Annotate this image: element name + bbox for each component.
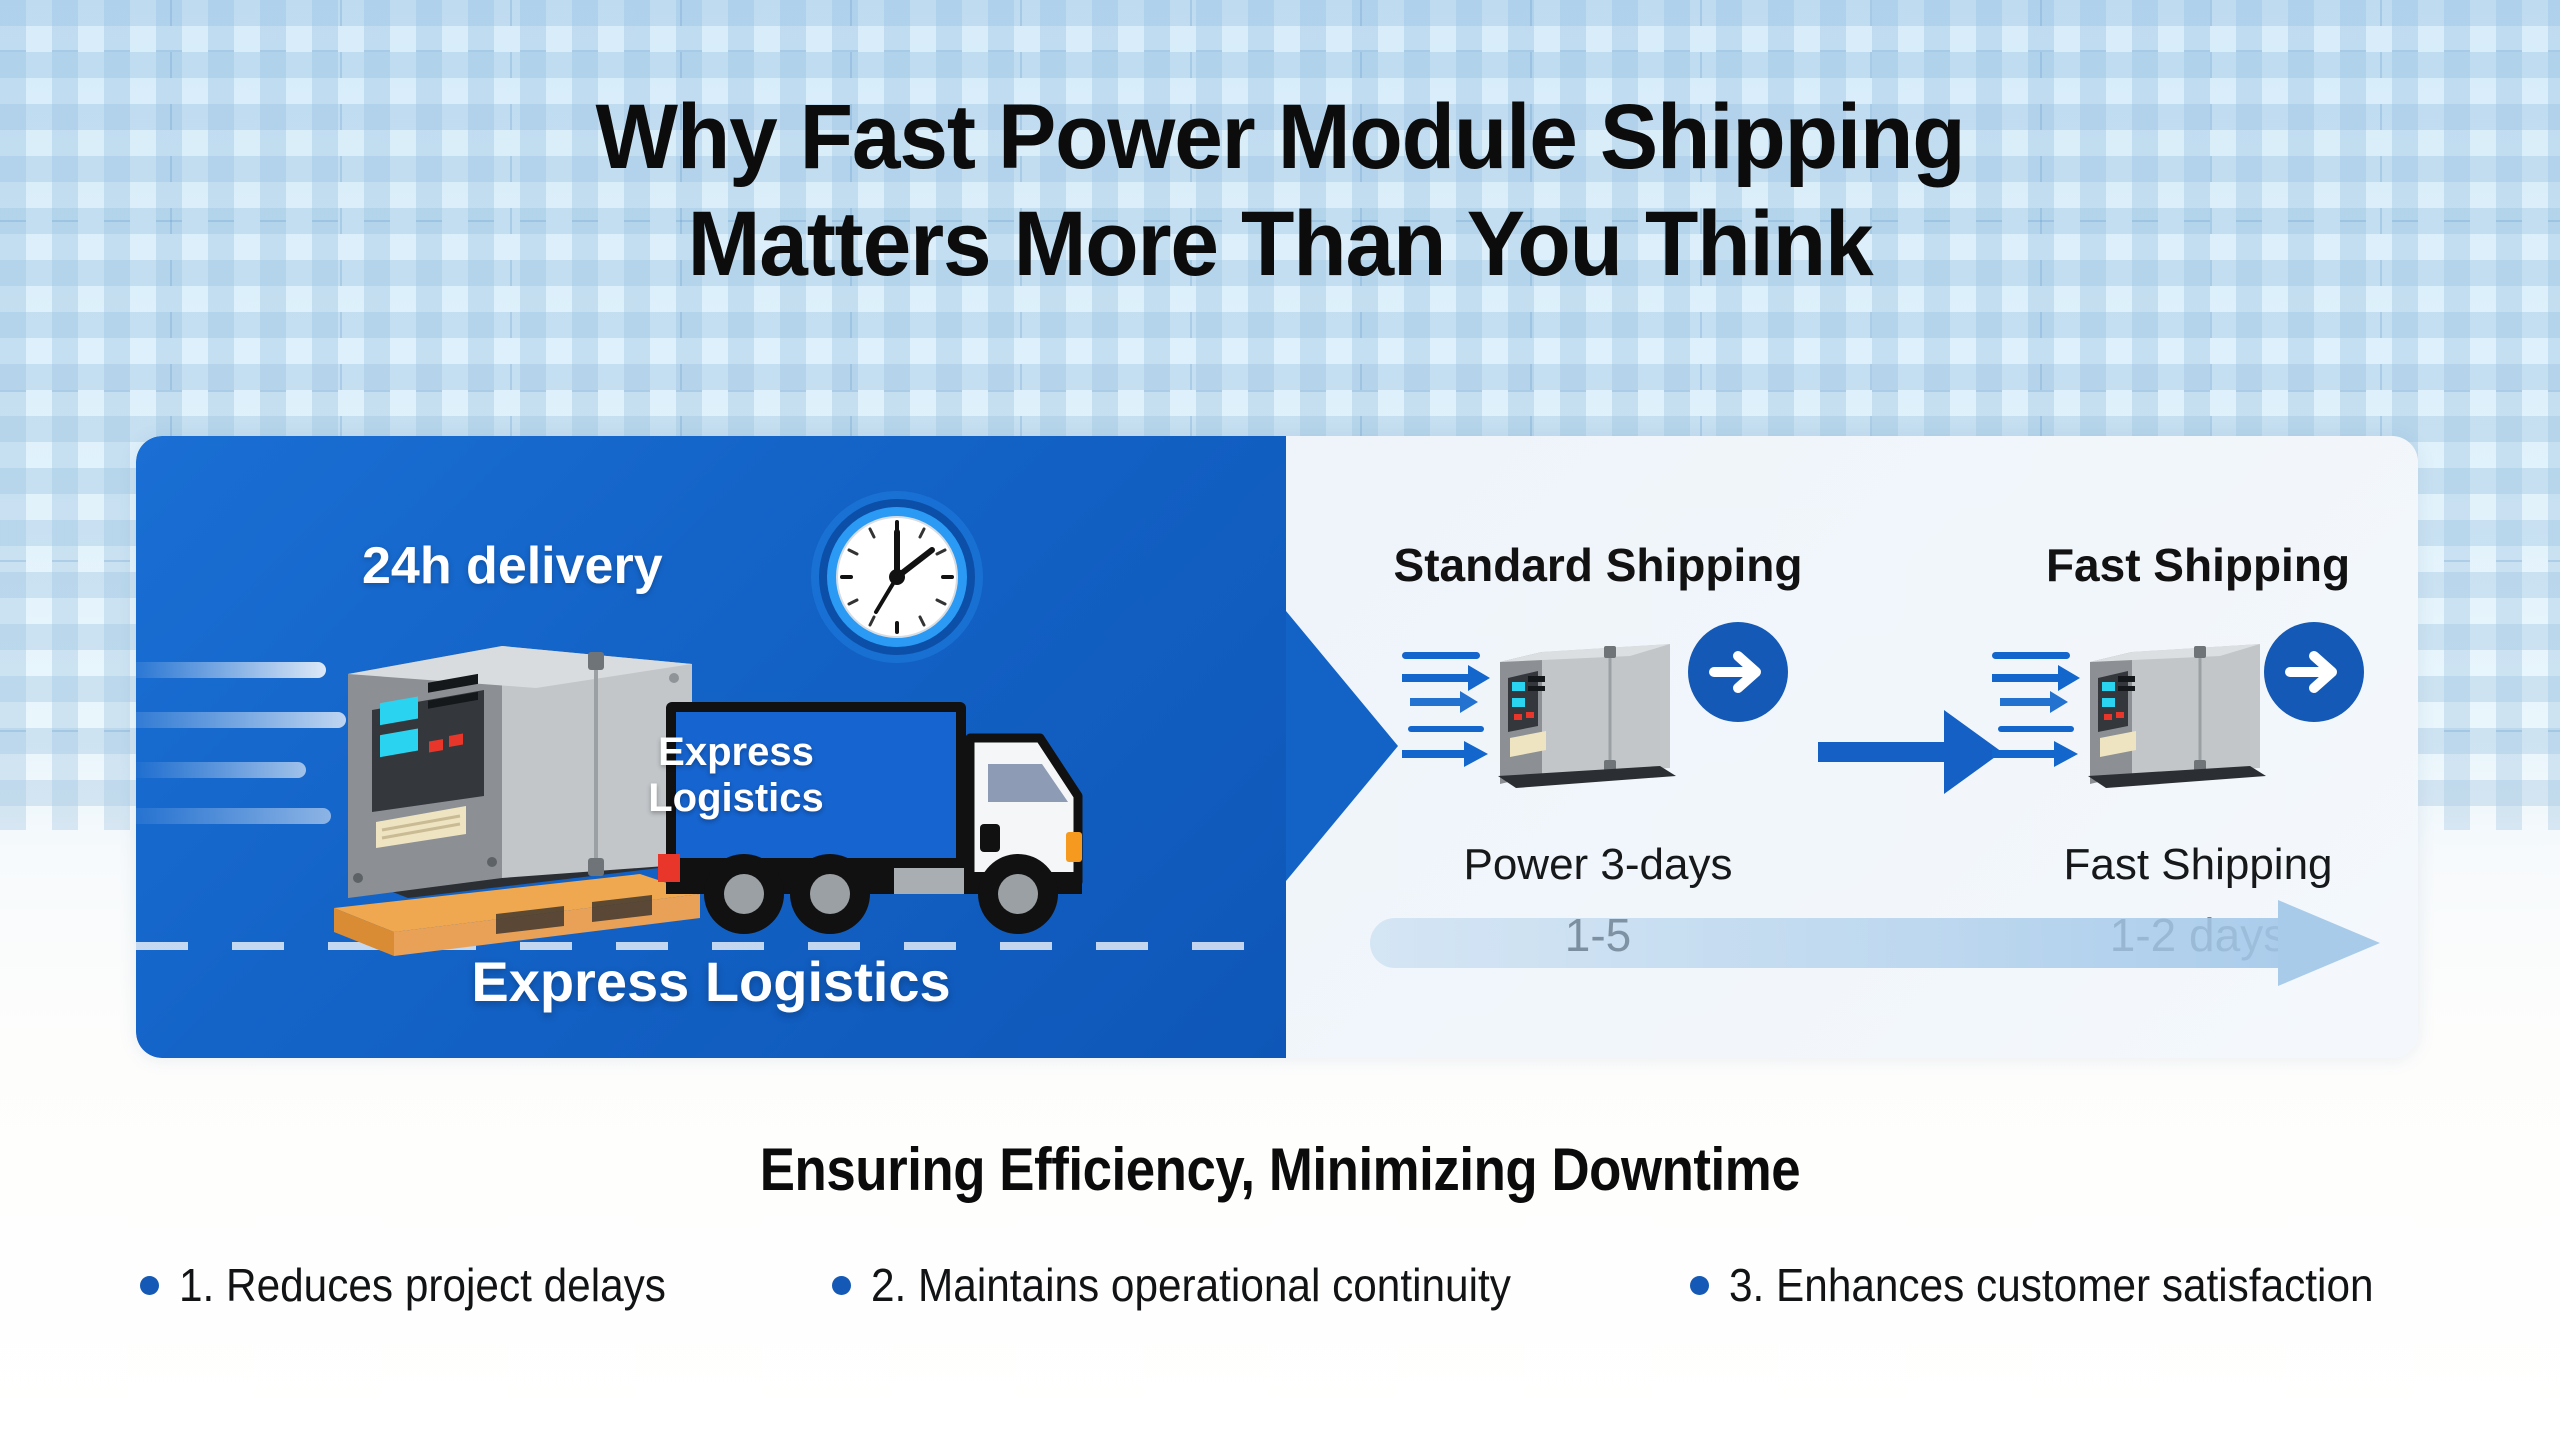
timeline-arrow-icon xyxy=(1370,912,2380,974)
express-logistics-panel: 24h delivery xyxy=(136,436,1286,1058)
title-line-1: Why Fast Power Module Shipping xyxy=(64,84,2496,191)
infographic-canvas: Why Fast Power Module Shipping Matters M… xyxy=(0,0,2560,1440)
wall-clock-icon xyxy=(808,488,986,666)
truck-sign-line-1: Express xyxy=(658,730,814,774)
fast-power-module-icon xyxy=(1992,618,2292,818)
list-item: 1. Reduces project delays xyxy=(140,1258,708,1312)
arrow-right-circle-icon[interactable] xyxy=(1686,620,1790,724)
subtitle: Ensuring Efficiency, Minimizing Downtime xyxy=(154,1135,2407,1204)
delivery-badge-label: 24h delivery xyxy=(362,536,663,596)
list-item: 2. Maintains operational continuity xyxy=(832,1258,1567,1312)
speed-lines-icon xyxy=(1992,652,2080,767)
arrow-right-circle-icon-fast[interactable] xyxy=(2262,620,2366,724)
fast-duration-label: Fast Shipping xyxy=(1978,840,2418,890)
benefits-list: 1. Reduces project delays 2. Maintains o… xyxy=(140,1258,2430,1312)
benefit-text: 3. Enhances customer satisfaction xyxy=(1729,1258,2374,1312)
bullet-dot-icon xyxy=(140,1276,159,1295)
list-item: 3. Enhances customer satisfaction xyxy=(1690,1258,2430,1312)
benefit-text: 2. Maintains operational continuity xyxy=(871,1258,1511,1312)
bullet-dot-icon xyxy=(832,1276,851,1295)
truck-sign-line-2: Logistics xyxy=(648,776,824,820)
benefit-text: 1. Reduces project delays xyxy=(179,1258,666,1312)
speed-lines-icon xyxy=(1402,652,1490,767)
fast-shipping-heading: Fast Shipping xyxy=(1978,538,2418,592)
express-logistics-caption: Express Logistics xyxy=(136,949,1286,1014)
bullet-dot-icon xyxy=(1690,1276,1709,1295)
standard-power-module-icon xyxy=(1402,618,1702,818)
page-title: Why Fast Power Module Shipping Matters M… xyxy=(64,84,2496,297)
standard-shipping-heading: Standard Shipping xyxy=(1378,538,1818,592)
title-line-2: Matters More Than You Think xyxy=(64,191,2496,298)
standard-duration-label: Power 3-days xyxy=(1378,840,1818,890)
long-arrow-right-icon xyxy=(1818,690,2018,800)
delivery-truck-icon: Express Logistics xyxy=(648,686,1128,946)
truck-sign-text: Express Logistics xyxy=(496,730,976,821)
